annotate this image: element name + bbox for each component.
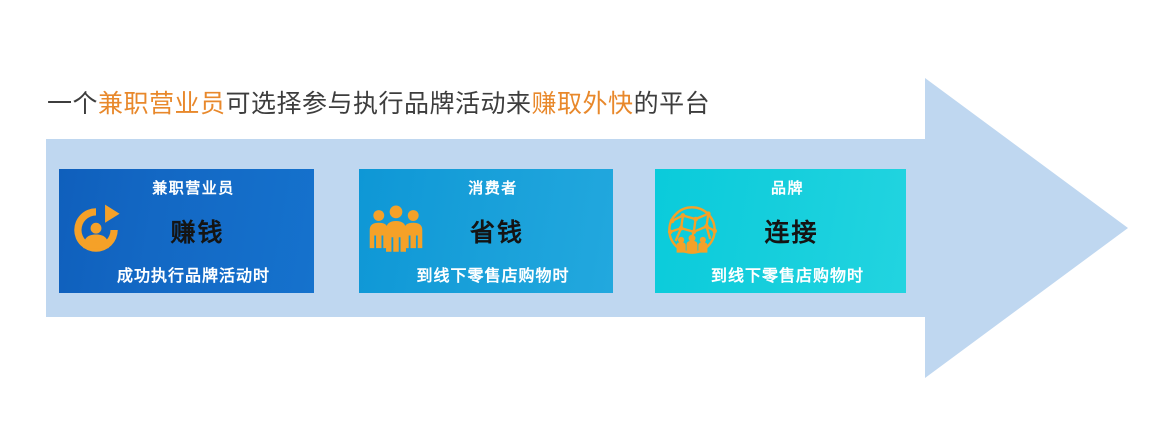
diagram-canvas: 一个兼职营业员可选择参与执行品牌活动来赚取外快的平台 兼职营业员 赚钱 成功执行… [0,0,1150,430]
headline-segment-1-accent: 兼职营业员 [98,91,226,118]
card-role-label: 消费者 [359,177,613,198]
page-title: 一个兼职营业员可选择参与执行品牌活动来赚取外快的平台 [47,88,710,122]
card-action-label: 省钱 [359,213,613,249]
card-role-label: 兼职营业员 [59,177,314,198]
headline-segment-0: 一个 [47,91,98,118]
card-when-label: 成功执行品牌活动时 [59,262,314,286]
card-brand[interactable]: 品牌 连接 到线下零售店购物时 [655,169,906,293]
headline-segment-4: 的平台 [634,91,711,118]
card-action-label: 赚钱 [59,213,314,249]
card-part-time-clerk[interactable]: 兼职营业员 赚钱 成功执行品牌活动时 [59,169,314,293]
headline-segment-2: 可选择参与执行品牌活动来 [226,91,532,118]
headline-segment-3-accent: 赚取外快 [532,91,634,118]
card-action-label: 连接 [655,213,906,249]
card-role-label: 品牌 [655,177,906,198]
card-consumer[interactable]: 消费者 省钱 到线下零售店购物时 [359,169,613,293]
card-when-label: 到线下零售店购物时 [655,262,906,286]
card-when-label: 到线下零售店购物时 [359,262,613,286]
